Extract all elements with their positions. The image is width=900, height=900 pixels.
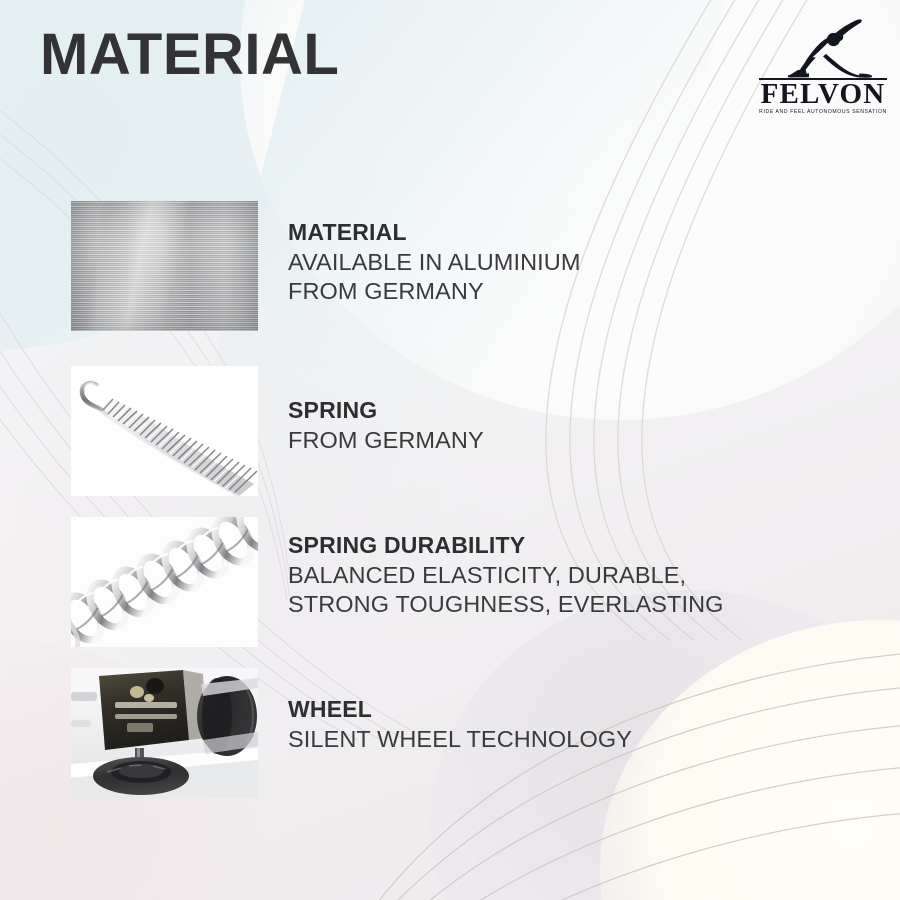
feature-body: BALANCED ELASTICITY, DURABLE, STRONG TOU… bbox=[288, 561, 724, 619]
feature-copy-wheel: WHEEL SILENT WHEEL TECHNOLOGY bbox=[288, 696, 632, 754]
feature-heading: MATERIAL bbox=[288, 219, 581, 246]
feature-copy-spring-durability: SPRING DURABILITY BALANCED ELASTICITY, D… bbox=[288, 532, 724, 619]
slide-header: MATERIAL bbox=[0, 0, 900, 140]
decorative-arcs-bottom-right bbox=[270, 610, 900, 900]
feature-body: AVAILABLE IN ALUMINIUM FROM GERMANY bbox=[288, 248, 581, 306]
thumbnail-tension-spring bbox=[71, 366, 258, 496]
logo-wordmark: FELVON bbox=[757, 80, 889, 109]
feature-heading: SPRING DURABILITY bbox=[288, 532, 724, 559]
feature-heading: WHEEL bbox=[288, 696, 632, 723]
page-title: MATERIAL bbox=[40, 26, 339, 84]
logo-tagline: RIDE AND FEEL AUTONOMOUS SENSATION bbox=[757, 110, 889, 115]
slide-canvas: MATERIAL bbox=[0, 0, 900, 900]
brand-logo: FELVON RIDE AND FEEL AUTONOMOUS SENSATIO… bbox=[757, 18, 889, 118]
feature-body: FROM GERMANY bbox=[288, 426, 484, 455]
background-blob-bottom-right-cream bbox=[600, 620, 900, 900]
feature-copy-spring: SPRING FROM GERMANY bbox=[288, 397, 484, 455]
thumbnail-coil-spring bbox=[71, 517, 258, 647]
feature-copy-material: MATERIAL AVAILABLE IN ALUMINIUM FROM GER… bbox=[288, 219, 581, 306]
feature-heading: SPRING bbox=[288, 397, 484, 424]
thumbnail-brushed-aluminium bbox=[71, 201, 258, 331]
feature-body: SILENT WHEEL TECHNOLOGY bbox=[288, 725, 632, 754]
yoga-figure-icon bbox=[771, 18, 875, 80]
thumbnail-silent-wheel bbox=[71, 668, 258, 798]
